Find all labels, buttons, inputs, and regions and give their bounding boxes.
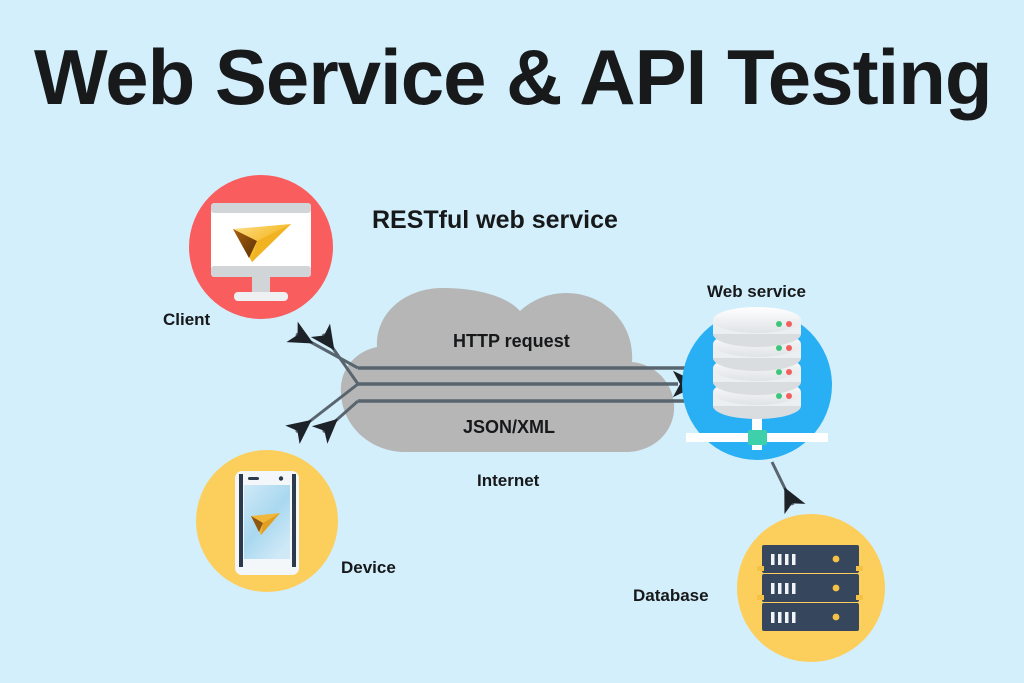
client-label: Client [163, 310, 210, 330]
node-web-service[interactable] [682, 307, 832, 460]
diagram-canvas: Web Service & API Testing [0, 0, 1024, 683]
node-device[interactable] [196, 450, 338, 592]
phone-edge-left [239, 474, 243, 567]
device-label: Device [341, 558, 396, 578]
monitor-bottombar [211, 266, 311, 277]
database-label: Database [633, 586, 709, 606]
line-to-database [772, 462, 793, 505]
monitor-stand-neck [252, 277, 270, 294]
web-service-label: Web service [707, 282, 806, 302]
restful-heading: RESTful web service [372, 206, 618, 235]
server-rack-icon [757, 545, 863, 631]
phone-speaker [248, 477, 259, 480]
http-request-label: HTTP request [453, 331, 570, 352]
node-database[interactable] [737, 514, 885, 662]
json-xml-label: JSON/XML [463, 417, 555, 438]
phone-edge-right [292, 474, 296, 567]
node-client[interactable] [189, 175, 333, 319]
phone-camera [279, 476, 283, 480]
monitor-topbar [211, 203, 311, 213]
internet-label: Internet [477, 471, 539, 491]
server-connector [748, 430, 767, 445]
monitor-stand-base [234, 292, 288, 301]
server-stack-icon [713, 307, 801, 419]
line-to-client-b [323, 334, 358, 384]
